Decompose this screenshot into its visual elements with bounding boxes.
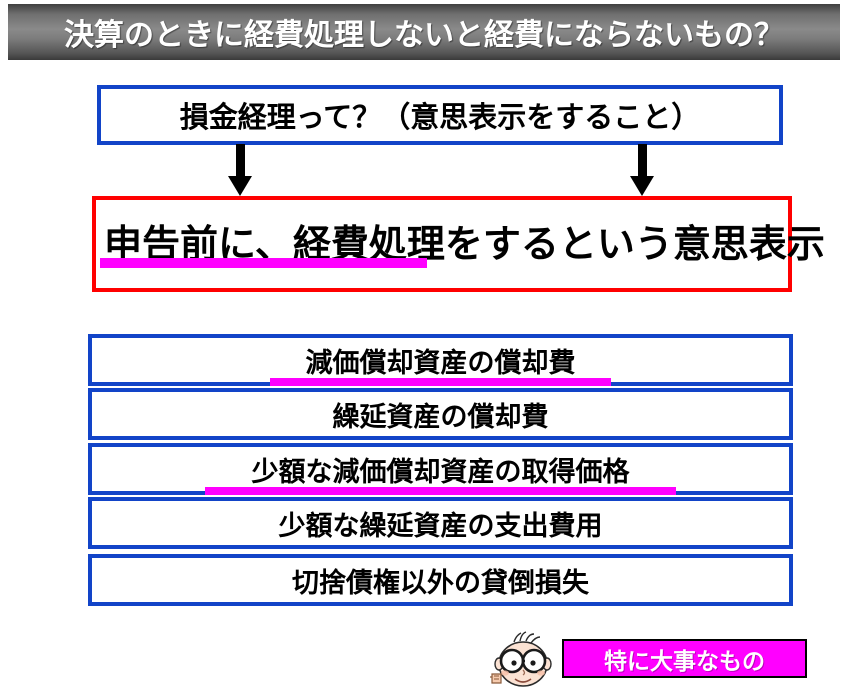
list-item-underline-highlight [205, 487, 676, 495]
list-item-underline-highlight [270, 378, 611, 386]
down-arrow-icon-left [228, 144, 252, 196]
emphasis-underline-highlight [100, 258, 427, 268]
list-item-label: 減価償却資産の償却費 [306, 341, 576, 380]
definition-box: 損金経理って？（意思表示をすること） [97, 85, 783, 145]
list-item-label: 切捨債権以外の貸倒損失 [292, 561, 589, 600]
list-item-label: 少額な繰延資産の支出費用 [279, 504, 603, 543]
list-item-label: 少額な減価償却資産の取得価格 [252, 450, 630, 489]
arrow-head [228, 176, 252, 196]
list-item: 繰延資産の償却費 [88, 388, 793, 440]
status-badge-label: 特に大事なもの [604, 642, 765, 676]
down-arrow-icon-right [630, 144, 654, 196]
definition-box-label: 損金経理って？（意思表示をすること） [180, 94, 701, 136]
arrow-head [630, 176, 654, 196]
list-item: 少額な繰延資産の支出費用 [88, 497, 793, 549]
emphasis-box: 申告前に、経費処理をするという意思表示 [92, 196, 792, 292]
status-badge: 特に大事なもの [562, 639, 807, 678]
cartoon-face-with-glasses-icon [490, 630, 558, 692]
slide-title-bar: 決算のときに経費処理しないと経費にならないもの？ [8, 4, 840, 60]
list-item: 切捨債権以外の貸倒損失 [88, 554, 793, 606]
arrow-shaft [236, 144, 245, 178]
page-title: 決算のときに経費処理しないと経費にならないもの？ [64, 10, 784, 54]
arrow-shaft [638, 144, 647, 178]
list-item-label: 繰延資産の償却費 [333, 395, 549, 434]
